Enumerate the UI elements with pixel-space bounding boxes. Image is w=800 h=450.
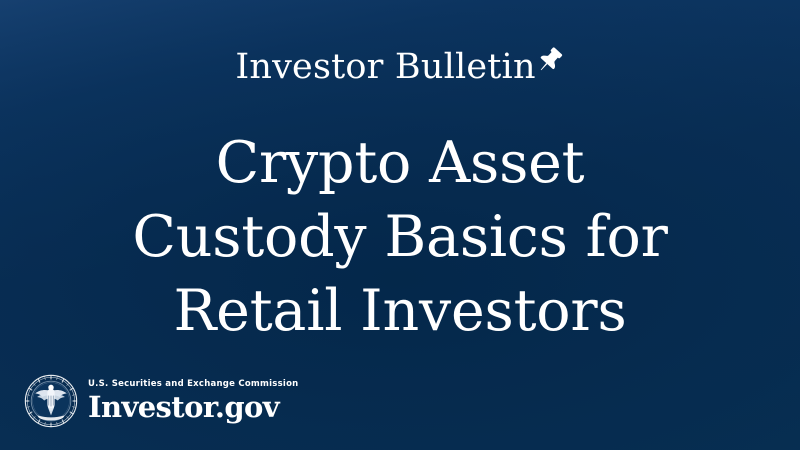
eyebrow-row: Investor Bulletin (0, 44, 800, 100)
title-line-3: Retail Investors (0, 274, 800, 348)
logo-text-group: U.S. Securities and Exchange Commission … (88, 379, 298, 424)
investor-bulletin-slide: Investor Bulletin Crypto Asset Custody B… (0, 0, 800, 450)
eyebrow-label: Investor Bulletin (235, 44, 535, 90)
title-line-2: Custody Basics for (0, 200, 800, 274)
investor-gov-logo-lockup[interactable]: U.S. Securities and Exchange Commission … (24, 374, 298, 428)
investor-gov-wordmark[interactable]: Investor.gov (88, 391, 298, 423)
page-title: Crypto Asset Custody Basics for Retail I… (0, 126, 800, 348)
pushpin-icon (536, 44, 565, 75)
agency-name: U.S. Securities and Exchange Commission (88, 379, 298, 390)
sec-eagle-seal-icon (24, 374, 78, 428)
title-line-1: Crypto Asset (0, 126, 800, 200)
